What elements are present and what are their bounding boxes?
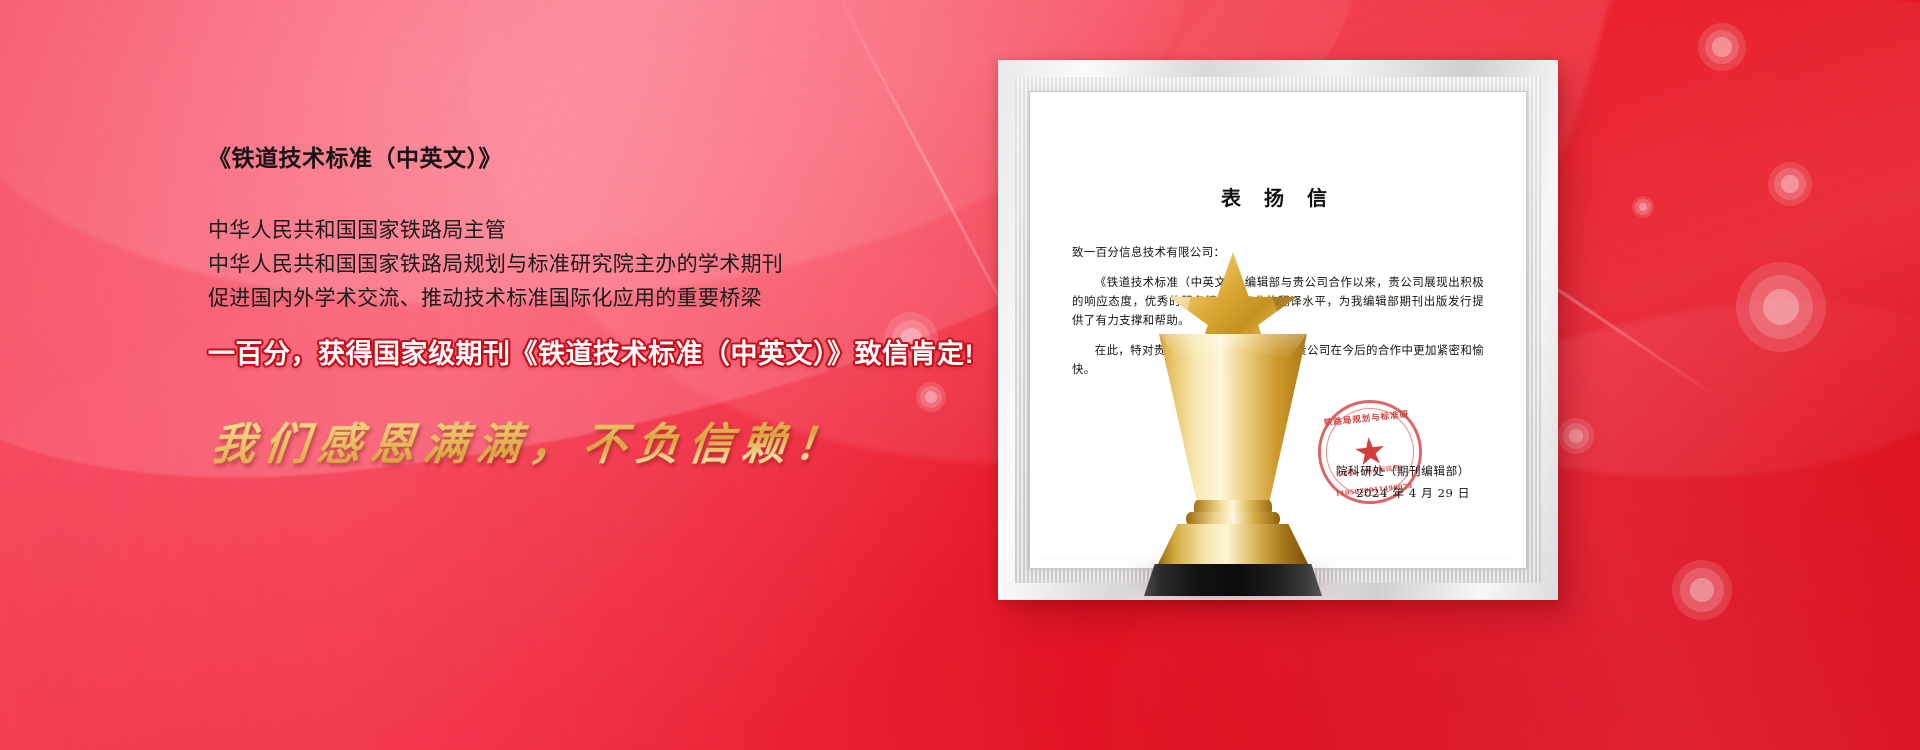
bokeh-core xyxy=(925,391,937,403)
gratitude-slogan: 我们感恩满满，不负信赖！ xyxy=(209,408,976,472)
journal-subtitle-line: 中华人民共和国国家铁路局规划与标准研究院主办的学术期刊 xyxy=(208,248,998,282)
bokeh-core xyxy=(1690,578,1714,602)
bokeh-outer xyxy=(1768,162,1812,206)
bokeh-mid xyxy=(1705,30,1740,65)
bokeh-mid xyxy=(920,386,942,408)
bokeh-outer xyxy=(1736,262,1826,352)
gold-star-trophy-icon xyxy=(1128,252,1338,572)
bokeh-outer xyxy=(1698,23,1746,71)
bokeh-outer xyxy=(1632,196,1654,218)
journal-title: 《铁道技术标准（中英文）》 xyxy=(208,144,998,174)
bokeh-circle xyxy=(1768,162,1812,206)
trophy-collar xyxy=(1186,512,1280,526)
certificate-signature-block: 院科研处（期刊编辑部） 2024 年 4 月 29 日 xyxy=(1336,460,1470,504)
bokeh-core xyxy=(1763,289,1799,325)
bokeh-mid xyxy=(1774,168,1806,200)
bokeh-core xyxy=(1639,203,1648,212)
journal-subtitle-list: 中华人民共和国国家铁路局主管 中华人民共和国国家铁路局规划与标准研究院主办的学术… xyxy=(208,214,998,316)
certificate-signature: 院科研处（期刊编辑部） xyxy=(1336,460,1470,482)
bokeh-outer xyxy=(1672,560,1732,620)
trophy-base-gold xyxy=(1156,524,1310,568)
trophy-cup xyxy=(1156,334,1310,506)
bokeh-mid xyxy=(1680,568,1723,611)
bokeh-core xyxy=(1712,37,1731,56)
certificate-title: 表 扬 信 xyxy=(1072,182,1484,211)
bokeh-circle xyxy=(1672,560,1732,620)
left-copy-block: 《铁道技术标准（中英文）》 中华人民共和国国家铁路局主管 中华人民共和国国家铁路… xyxy=(208,144,998,316)
trophy-cup-inner-panel xyxy=(1181,344,1286,506)
certificate-date: 2024 年 4 月 29 日 xyxy=(1336,482,1470,504)
bokeh-mid xyxy=(1635,199,1651,215)
bokeh-circle xyxy=(1698,23,1746,71)
bokeh-circle xyxy=(1736,262,1826,352)
bokeh-mid xyxy=(1749,275,1814,340)
journal-subtitle-line: 中华人民共和国国家铁路局主管 xyxy=(208,214,998,248)
trophy-base-dark xyxy=(1144,564,1322,596)
bokeh-core xyxy=(1781,175,1799,193)
bokeh-circle xyxy=(1632,196,1654,218)
award-headline: 一百分，获得国家级期刊《铁道技术标准（中英文）》致信肯定! xyxy=(208,332,1068,371)
journal-subtitle-line: 促进国内外学术交流、推动技术标准国际化应用的重要桥梁 xyxy=(208,282,998,316)
banner-canvas: 《铁道技术标准（中英文）》 中华人民共和国国家铁路局主管 中华人民共和国国家铁路… xyxy=(0,0,1920,750)
